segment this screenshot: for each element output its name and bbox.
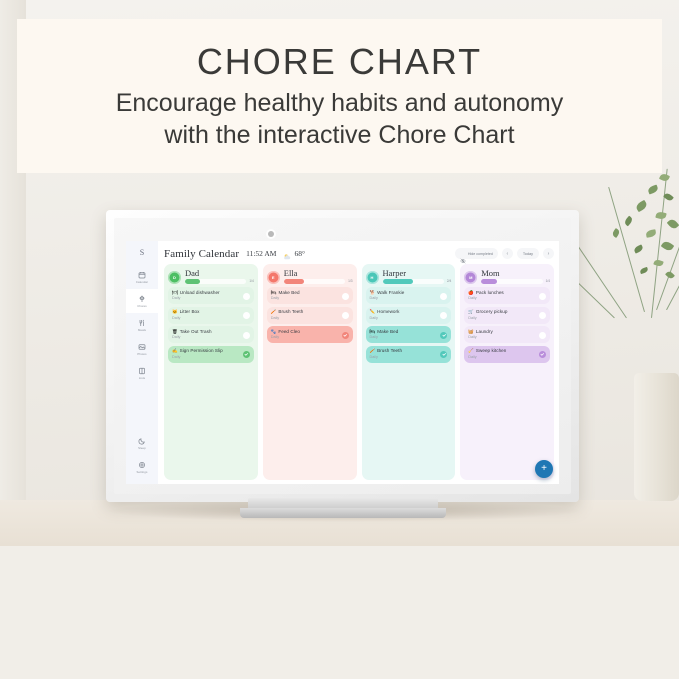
task-body: 🛒 Grocery pickup Daily	[468, 309, 536, 321]
task-title-row: 🐾 Feed Cleo	[271, 329, 339, 335]
task-title: Homework	[377, 309, 399, 315]
progress-track	[284, 279, 345, 284]
tv-camera-dot	[268, 231, 274, 237]
page-title: Family Calendar	[164, 248, 239, 260]
task-recurrence: Daily	[468, 335, 536, 340]
task-checkbox-checked[interactable]	[440, 332, 447, 339]
promo-subtitle: Encourage healthy habits and autonomy wi…	[116, 87, 564, 151]
promo-subtitle-line2: with the interactive Chore Chart	[116, 119, 564, 151]
task-emoji-icon: 🐕	[370, 290, 376, 296]
progress-fill	[284, 279, 304, 284]
column-header-text: Ella 1/3	[284, 268, 353, 284]
today-button[interactable]: Today	[517, 248, 539, 259]
task-checkbox[interactable]	[243, 312, 250, 319]
task-checkbox[interactable]	[243, 332, 250, 339]
task-title: Sweep kitchen	[476, 348, 507, 354]
task-emoji-icon: 🧺	[468, 329, 474, 335]
hide-completed-label: Hide completed	[468, 252, 493, 256]
task-card[interactable]: ✏️ Homework Daily	[366, 307, 452, 324]
chore-column: E Ella 1/3 🛏 Make Bed Daily	[263, 264, 357, 480]
sidebar-item-lists[interactable]: Lists	[126, 361, 158, 385]
task-recurrence: Daily	[370, 316, 438, 321]
sidebar-nav: Calendar Chores	[126, 265, 158, 385]
smart-display-screen: S Calendar Chores	[126, 241, 559, 484]
task-recurrence: Daily	[271, 335, 339, 340]
column-header-text: Harper 2/4	[383, 268, 452, 284]
sidebar-item-sleep[interactable]: Sleep	[126, 431, 158, 455]
task-checkbox[interactable]	[440, 293, 447, 300]
task-body: 🧹 Sweep kitchen Daily	[468, 348, 536, 360]
chore-column: H Harper 2/4 🐕 Walk Frankie Dail	[362, 264, 456, 480]
task-recurrence: Daily	[172, 335, 240, 340]
task-body: 🍎 Pack lunches Daily	[468, 290, 536, 302]
task-title: Walk Frankie	[377, 290, 404, 296]
promo-title: CHORE CHART	[197, 41, 482, 82]
task-list: 🛏 Make Bed Daily 🪥 Brush Teeth Daily	[267, 287, 353, 343]
column-header: D Dad 1/4	[168, 268, 254, 284]
task-title: Unload dishwasher	[180, 290, 220, 296]
task-card[interactable]: 🍎 Pack lunches Daily	[464, 287, 550, 304]
task-body: ✏️ Homework Daily	[370, 309, 438, 321]
avatar[interactable]: E	[267, 271, 280, 284]
task-title-row: 🛒 Grocery pickup	[468, 309, 536, 315]
task-body: ✍️ Sign Permission Slip Daily	[172, 348, 240, 360]
chores-icon	[138, 295, 146, 303]
progress-row: 2/4	[383, 279, 452, 284]
task-list: 🍎 Pack lunches Daily 🛒 Grocery pickup Da…	[464, 287, 550, 363]
task-body: 🧺 Laundry Daily	[468, 329, 536, 341]
weather-widget: 68°	[283, 249, 305, 258]
progress-row: 1/3	[284, 279, 353, 284]
sidebar-label: Lists	[139, 376, 145, 380]
task-recurrence: Daily	[468, 316, 536, 321]
progress-track	[383, 279, 444, 284]
task-title-row: 🍽 Unload dishwasher	[172, 290, 240, 296]
chore-column: D Dad 1/4 🍽 Unload dishwasher Da	[164, 264, 258, 480]
task-title-row: 🗑 Take Out Trash	[172, 329, 240, 335]
task-body: 🐾 Feed Cleo Daily	[271, 329, 339, 341]
main-panel: Family Calendar 11:52 AM 68°	[158, 241, 559, 484]
lists-icon	[138, 367, 146, 375]
progress-row: 1/4	[185, 279, 254, 284]
task-body: 🐱 Litter Box Daily	[172, 309, 240, 321]
task-title-row: ✏️ Homework	[370, 309, 438, 315]
progress-fraction: 1/4	[249, 279, 253, 283]
task-recurrence: Daily	[370, 296, 438, 301]
tv-stand-base	[240, 508, 446, 518]
sidebar-item-settings[interactable]: Settings	[126, 455, 158, 479]
task-emoji-icon: 🍎	[468, 290, 474, 296]
sidebar-item-photos[interactable]: Photos	[126, 337, 158, 361]
task-recurrence: Daily	[468, 355, 536, 360]
task-checkbox-checked[interactable]	[440, 351, 447, 358]
task-recurrence: Daily	[271, 296, 339, 301]
task-checkbox[interactable]	[539, 332, 546, 339]
progress-fill	[185, 279, 200, 284]
task-recurrence: Daily	[172, 316, 240, 321]
next-day-button[interactable]: ›	[543, 248, 554, 259]
task-recurrence: Daily	[172, 355, 240, 360]
task-card[interactable]: 🐕 Walk Frankie Daily	[366, 287, 452, 304]
task-emoji-icon: 🐱	[172, 309, 178, 315]
task-card[interactable]: 🍽 Unload dishwasher Daily	[168, 287, 254, 304]
member-name: Ella	[284, 268, 353, 278]
sidebar-bottom-nav: Sleep Settings	[126, 431, 158, 484]
temperature: 68°	[294, 249, 305, 258]
task-title: Litter Box	[180, 309, 200, 315]
task-body: 🪥 Brush Teeth Daily	[271, 309, 339, 321]
sidebar: S Calendar Chores	[126, 241, 158, 484]
partly-cloudy-icon	[283, 249, 292, 258]
task-title: Laundry	[476, 329, 493, 335]
sidebar-label: Chores	[137, 304, 147, 308]
task-title-row: 🐕 Walk Frankie	[370, 290, 438, 296]
progress-fraction: 2/4	[447, 279, 451, 283]
task-emoji-icon: 🐾	[271, 329, 277, 335]
task-title: Take Out Trash	[180, 329, 212, 335]
column-header: M Mom 1/4	[464, 268, 550, 284]
clock: 11:52 AM	[246, 249, 276, 258]
task-title-row: 🪥 Brush Teeth	[271, 309, 339, 315]
task-checkbox-checked[interactable]	[342, 332, 349, 339]
progress-fill	[383, 279, 414, 284]
task-checkbox[interactable]	[243, 293, 250, 300]
task-title: Feed Cleo	[278, 329, 300, 335]
task-emoji-icon: 🛒	[468, 309, 474, 315]
task-title-row: 🍎 Pack lunches	[468, 290, 536, 296]
meals-icon	[138, 319, 146, 327]
task-title: Pack lunches	[476, 290, 504, 296]
member-name: Harper	[383, 268, 452, 278]
task-body: 🛏 Make Bed Daily	[370, 329, 438, 341]
sidebar-item-calendar[interactable]: Calendar	[126, 265, 158, 289]
eye-off-icon	[460, 251, 466, 257]
task-card[interactable]: 🐱 Litter Box Daily	[168, 307, 254, 324]
chore-column: M Mom 1/4 🍎 Pack lunches Daily	[460, 264, 554, 480]
task-title: Make Bed	[377, 329, 398, 335]
add-chore-button[interactable]: +	[535, 460, 553, 478]
task-checkbox[interactable]	[440, 312, 447, 319]
prev-day-button[interactable]: ‹	[502, 248, 513, 259]
task-title-row: 🛏 Make Bed	[271, 290, 339, 296]
plant-decoration	[596, 168, 679, 383]
avatar[interactable]: D	[168, 271, 181, 284]
task-title: Sign Permission Slip	[180, 348, 223, 354]
task-title-row: 🧺 Laundry	[468, 329, 536, 335]
task-recurrence: Daily	[468, 296, 536, 301]
sidebar-label: Calendar	[136, 280, 148, 284]
progress-fraction: 1/3	[348, 279, 352, 283]
task-emoji-icon: 🪥	[271, 309, 277, 315]
task-title-row: 🛏 Make Bed	[370, 329, 438, 335]
task-title: Brush Teeth	[278, 309, 303, 315]
task-emoji-icon: 🍽	[172, 290, 178, 296]
task-card[interactable]: 🪥 Brush Teeth Daily	[267, 307, 353, 324]
task-recurrence: Daily	[370, 335, 438, 340]
task-emoji-icon: 🪥	[370, 348, 376, 354]
task-checkbox[interactable]	[539, 293, 546, 300]
column-header-text: Dad 1/4	[185, 268, 254, 284]
task-emoji-icon: 🛏	[370, 329, 376, 335]
task-checkbox[interactable]	[539, 312, 546, 319]
progress-row: 1/4	[481, 279, 550, 284]
sidebar-item-chores[interactable]: Chores	[126, 289, 158, 313]
column-header-text: Mom 1/4	[481, 268, 550, 284]
member-name: Mom	[481, 268, 550, 278]
progress-track	[481, 279, 542, 284]
task-body: 🐕 Walk Frankie Daily	[370, 290, 438, 302]
task-card[interactable]: 🗑 Take Out Trash Daily	[168, 326, 254, 343]
task-body: 🗑 Take Out Trash Daily	[172, 329, 240, 341]
sidebar-label: Settings	[137, 470, 148, 474]
promo-subtitle-line1: Encourage healthy habits and autonomy	[116, 87, 564, 119]
task-body: 🍽 Unload dishwasher Daily	[172, 290, 240, 302]
task-emoji-icon: ✍️	[172, 348, 178, 354]
task-title-row: 🐱 Litter Box	[172, 309, 240, 315]
progress-track	[185, 279, 246, 284]
promo-header-card: CHORE CHART Encourage healthy habits and…	[17, 19, 662, 173]
task-title: Make Bed	[278, 290, 299, 296]
task-recurrence: Daily	[172, 296, 240, 301]
chore-board: D Dad 1/4 🍽 Unload dishwasher Da	[164, 262, 554, 484]
task-title-row: 🪥 Brush Teeth	[370, 348, 438, 354]
avatar[interactable]: H	[366, 271, 379, 284]
task-emoji-icon: 🛏	[271, 290, 277, 296]
task-card[interactable]: 🛏 Make Bed Daily	[267, 287, 353, 304]
sidebar-label: Sleep	[138, 446, 146, 450]
moon-icon	[138, 437, 146, 445]
task-emoji-icon: ✏️	[370, 309, 376, 315]
gear-icon	[138, 461, 146, 469]
task-card[interactable]: 🪥 Brush Teeth Daily	[366, 346, 452, 363]
task-card[interactable]: 🧹 Sweep kitchen Daily	[464, 346, 550, 363]
task-card[interactable]: 🧺 Laundry Daily	[464, 326, 550, 343]
photos-icon	[138, 343, 146, 351]
progress-fill	[481, 279, 496, 284]
task-card[interactable]: 🛒 Grocery pickup Daily	[464, 307, 550, 324]
brand-logo[interactable]: S	[140, 245, 144, 261]
vase	[634, 373, 679, 501]
member-name: Dad	[185, 268, 254, 278]
task-emoji-icon: 🧹	[468, 348, 474, 354]
task-card[interactable]: 🐾 Feed Cleo Daily	[267, 326, 353, 343]
task-title-row: 🧹 Sweep kitchen	[468, 348, 536, 354]
sidebar-item-meals[interactable]: Meals	[126, 313, 158, 337]
task-title: Grocery pickup	[476, 309, 508, 315]
task-emoji-icon: 🗑	[172, 329, 178, 335]
task-title: Brush Teeth	[377, 348, 402, 354]
column-header: E Ella 1/3	[267, 268, 353, 284]
task-card[interactable]: 🛏 Make Bed Daily	[366, 326, 452, 343]
task-checkbox[interactable]	[342, 293, 349, 300]
task-list: 🍽 Unload dishwasher Daily 🐱 Litter Box D…	[168, 287, 254, 363]
task-recurrence: Daily	[370, 355, 438, 360]
task-title-row: ✍️ Sign Permission Slip	[172, 348, 240, 354]
progress-fraction: 1/4	[546, 279, 550, 283]
task-checkbox[interactable]	[342, 312, 349, 319]
task-checkbox-checked[interactable]	[539, 351, 546, 358]
hide-completed-button[interactable]: Hide completed	[455, 248, 498, 259]
calendar-icon	[138, 271, 146, 279]
fab-container: +	[535, 460, 553, 478]
task-checkbox-checked[interactable]	[243, 351, 250, 358]
column-header: H Harper 2/4	[366, 268, 452, 284]
avatar[interactable]: M	[464, 271, 477, 284]
sidebar-label: Photos	[137, 352, 146, 356]
task-body: 🪥 Brush Teeth Daily	[370, 348, 438, 360]
task-list: 🐕 Walk Frankie Daily ✏️ Homework Daily	[366, 287, 452, 363]
topbar: Family Calendar 11:52 AM 68°	[164, 245, 554, 262]
task-recurrence: Daily	[271, 316, 339, 321]
task-card[interactable]: ✍️ Sign Permission Slip Daily	[168, 346, 254, 363]
sidebar-label: Meals	[138, 328, 146, 332]
topbar-actions: Hide completed ‹ Today ›	[455, 248, 554, 259]
task-body: 🛏 Make Bed Daily	[271, 290, 339, 302]
